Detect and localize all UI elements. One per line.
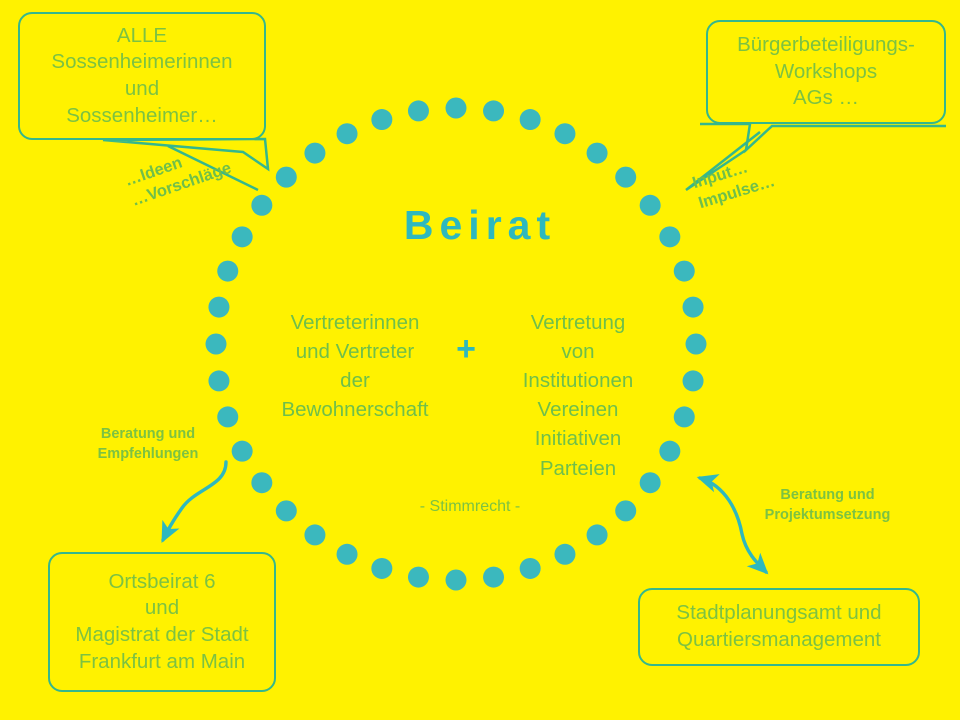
label-ideen-vorschlaege: …Ideen …Vorschläge: [122, 138, 234, 212]
ring-dot: [683, 297, 704, 318]
diagram-canvas: ALLESossenheimerinnenundSossenheimer… Bü…: [0, 0, 960, 720]
bubble-buergerbeteiligungs-workshops[interactable]: Bürgerbeteiligungs-WorkshopsAGs …: [706, 20, 946, 124]
ring-dot: [483, 100, 504, 121]
bubble-alle-text: ALLESossenheimerinnenundSossenheimer…: [20, 23, 264, 130]
box-stadtplanungsamt-quartiersmanagement[interactable]: Stadtplanungsamt undQuartiersmanagement: [638, 588, 920, 666]
ring-dot: [686, 334, 707, 355]
ring-dot: [615, 500, 636, 521]
ring-dot: [587, 143, 608, 164]
ring-dot: [371, 558, 392, 579]
ring-dot: [208, 370, 229, 391]
bubble-workshops-text: Bürgerbeteiligungs-WorkshopsAGs …: [708, 32, 944, 112]
label-beratung-empf-line2: Empfehlungen: [78, 445, 218, 465]
arrow-beratung-empfehlungen: [163, 462, 226, 540]
ring-dot: [217, 406, 238, 427]
ring-dot: [232, 441, 253, 462]
ring-dot: [408, 100, 429, 121]
ring-dot: [446, 570, 467, 591]
ring-dot: [371, 109, 392, 130]
ring-dot: [206, 334, 227, 355]
ring-dot: [337, 544, 358, 565]
label-beratung-proj-line2: Projektumsetzung: [740, 506, 915, 526]
center-right-column: VertretungvonInstitutionenVereinenInitia…: [485, 308, 671, 483]
label-beratung-empf-line1: Beratung und: [78, 425, 218, 445]
center-footnote-stimmrecht: - Stimmrecht -: [355, 498, 585, 516]
ring-dot: [337, 123, 358, 144]
ring-dot: [208, 297, 229, 318]
ring-dot: [251, 472, 272, 493]
center-left-column: Vertreterinnenund VertreterderBewohnersc…: [262, 308, 448, 424]
label-beratung-projektumsetzung: Beratung und Projektumsetzung: [740, 486, 915, 525]
ring-dot: [276, 167, 297, 188]
ring-dot: [554, 123, 575, 144]
ring-dot: [587, 524, 608, 545]
label-beratung-empfehlungen: Beratung und Empfehlungen: [78, 425, 218, 464]
plus-icon: +: [448, 330, 484, 369]
bubble-alle-sossenheimer[interactable]: ALLESossenheimerinnenundSossenheimer…: [18, 12, 266, 140]
ring-dot: [520, 558, 541, 579]
ring-dot: [674, 406, 695, 427]
ring-dot: [554, 544, 575, 565]
ring-dot: [683, 370, 704, 391]
ring-dot: [615, 167, 636, 188]
ring-dot: [276, 500, 297, 521]
ring-dot: [674, 261, 695, 282]
ring-dot: [446, 98, 467, 119]
ring-dot: [483, 567, 504, 588]
bubble-tail-workshops: [700, 124, 946, 150]
box-ortsbeirat-magistrat[interactable]: Ortsbeirat 6undMagistrat der StadtFrankf…: [48, 552, 276, 692]
label-beratung-proj-line1: Beratung und: [740, 486, 915, 506]
box-stadtplanung-text: Stadtplanungsamt undQuartiersmanagement: [640, 600, 918, 653]
ring-dot: [408, 567, 429, 588]
ring-dot: [304, 143, 325, 164]
ring-dot: [304, 524, 325, 545]
ring-dot: [217, 261, 238, 282]
box-ortsbeirat-text: Ortsbeirat 6undMagistrat der StadtFrankf…: [50, 569, 274, 676]
ring-dot: [520, 109, 541, 130]
